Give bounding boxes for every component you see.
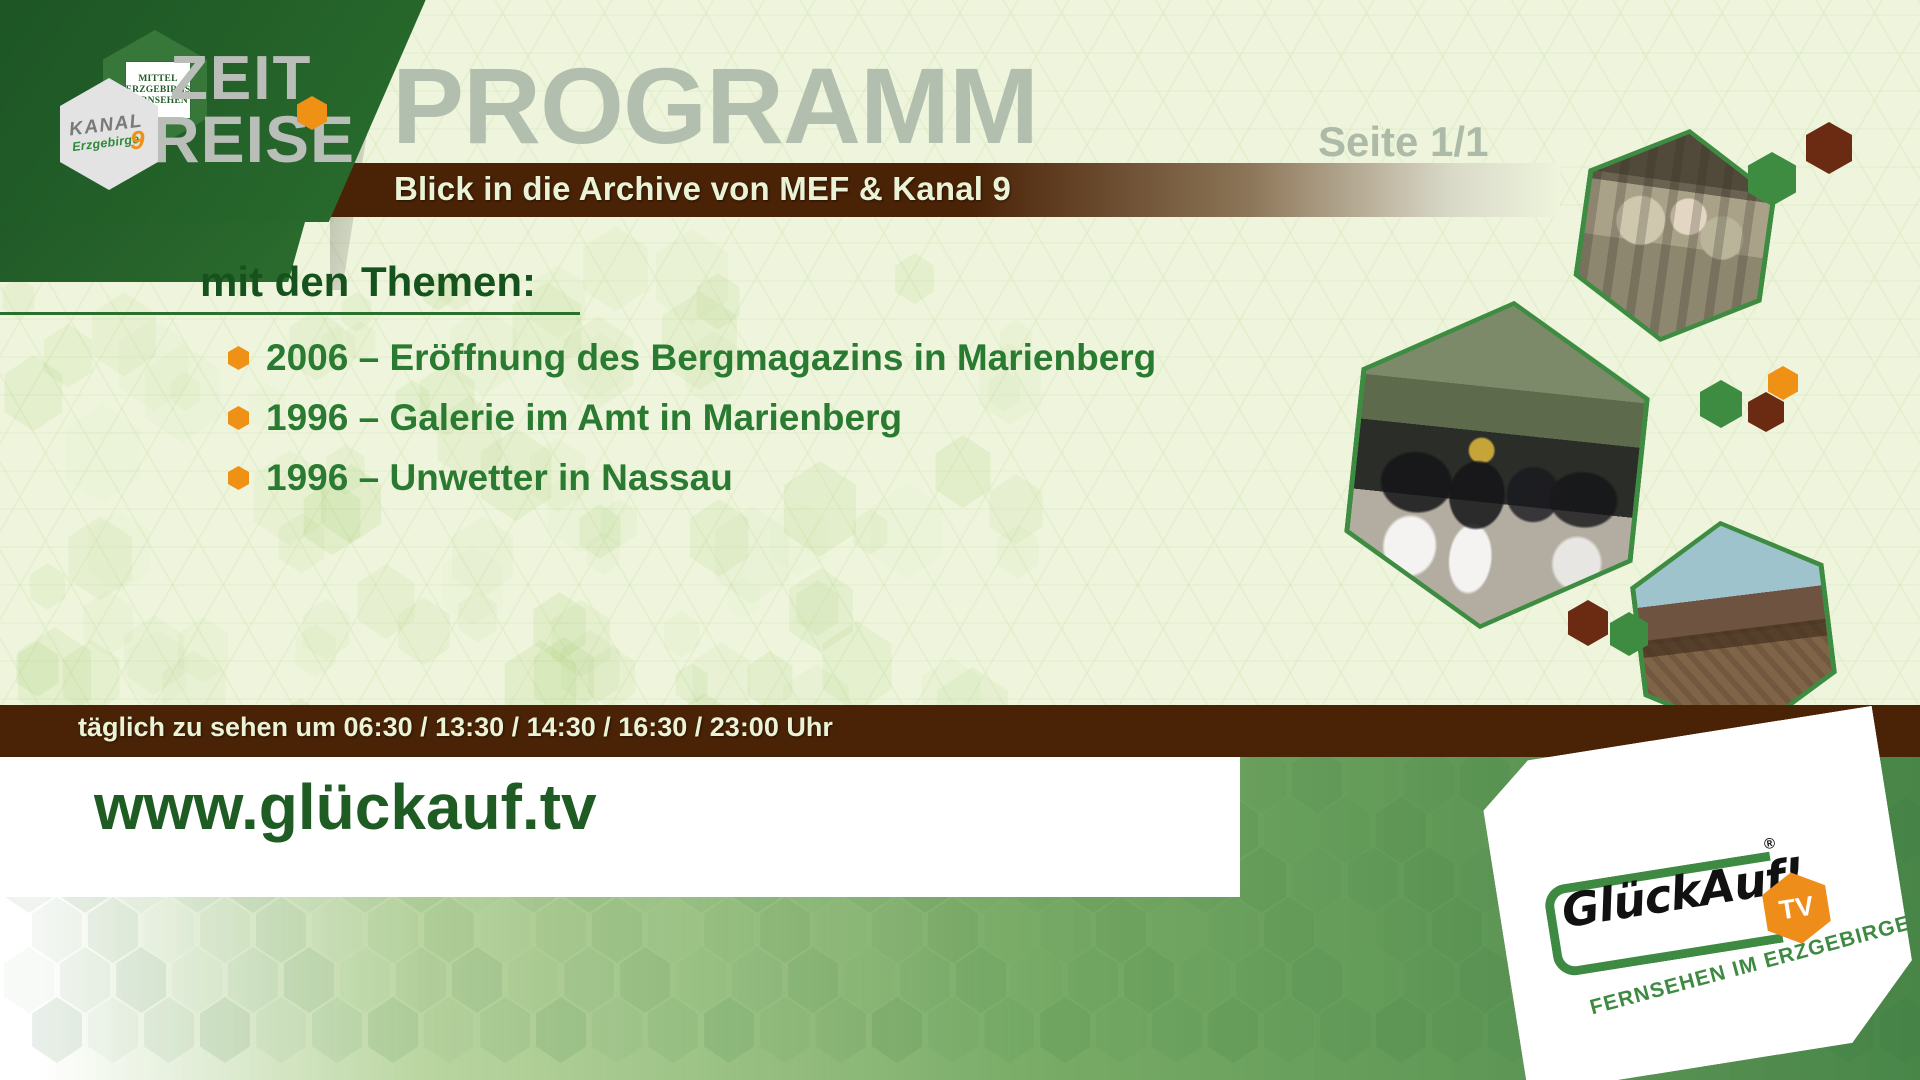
bullet-hexagon-icon xyxy=(228,406,249,430)
show-title-line1: ZEIT xyxy=(170,52,355,106)
topics-list: 2006 – Eröffnung des Bergmagazins in Mar… xyxy=(228,330,1156,510)
page-indicator: Seite 1/1 xyxy=(1318,118,1488,166)
kanal9-number: 9 xyxy=(130,127,144,153)
program-slide: MITTEL ERZGEBIRGS FERNSEHEN KANAL Erzgeb… xyxy=(0,0,1920,1080)
page-title: PROGRAMM xyxy=(392,52,1038,160)
topic-label: 1996 – Galerie im Amt in Marienberg xyxy=(266,397,902,439)
broadcast-times-text: täglich zu sehen um 06:30 / 13:30 / 14:3… xyxy=(78,712,833,743)
topics-heading-underline xyxy=(0,312,580,315)
tv-badge-label: TV xyxy=(1777,890,1816,926)
bullet-hexagon-icon xyxy=(228,466,249,490)
website-url: www.glückauf.tv xyxy=(94,770,597,844)
subtitle-text: Blick in die Archive von MEF & Kanal 9 xyxy=(394,170,1011,208)
bullet-hexagon-icon xyxy=(228,346,249,370)
topic-label: 1996 – Unwetter in Nassau xyxy=(266,457,733,499)
glueckauf-tv-logo-card: GlückAuf! ® TV FERNSEHEN IM ERZGEBIRGE xyxy=(1477,706,1920,1080)
topic-label: 2006 – Eröffnung des Bergmagazins in Mar… xyxy=(266,337,1156,379)
topics-heading: mit den Themen: xyxy=(200,258,536,306)
topic-item: 2006 – Eröffnung des Bergmagazins in Mar… xyxy=(228,330,1156,386)
show-title: ZEIT REISE xyxy=(170,52,355,168)
registered-trademark-icon: ® xyxy=(1763,835,1777,854)
topic-item: 1996 – Unwetter in Nassau xyxy=(228,450,1156,506)
topic-item: 1996 – Galerie im Amt in Marienberg xyxy=(228,390,1156,446)
